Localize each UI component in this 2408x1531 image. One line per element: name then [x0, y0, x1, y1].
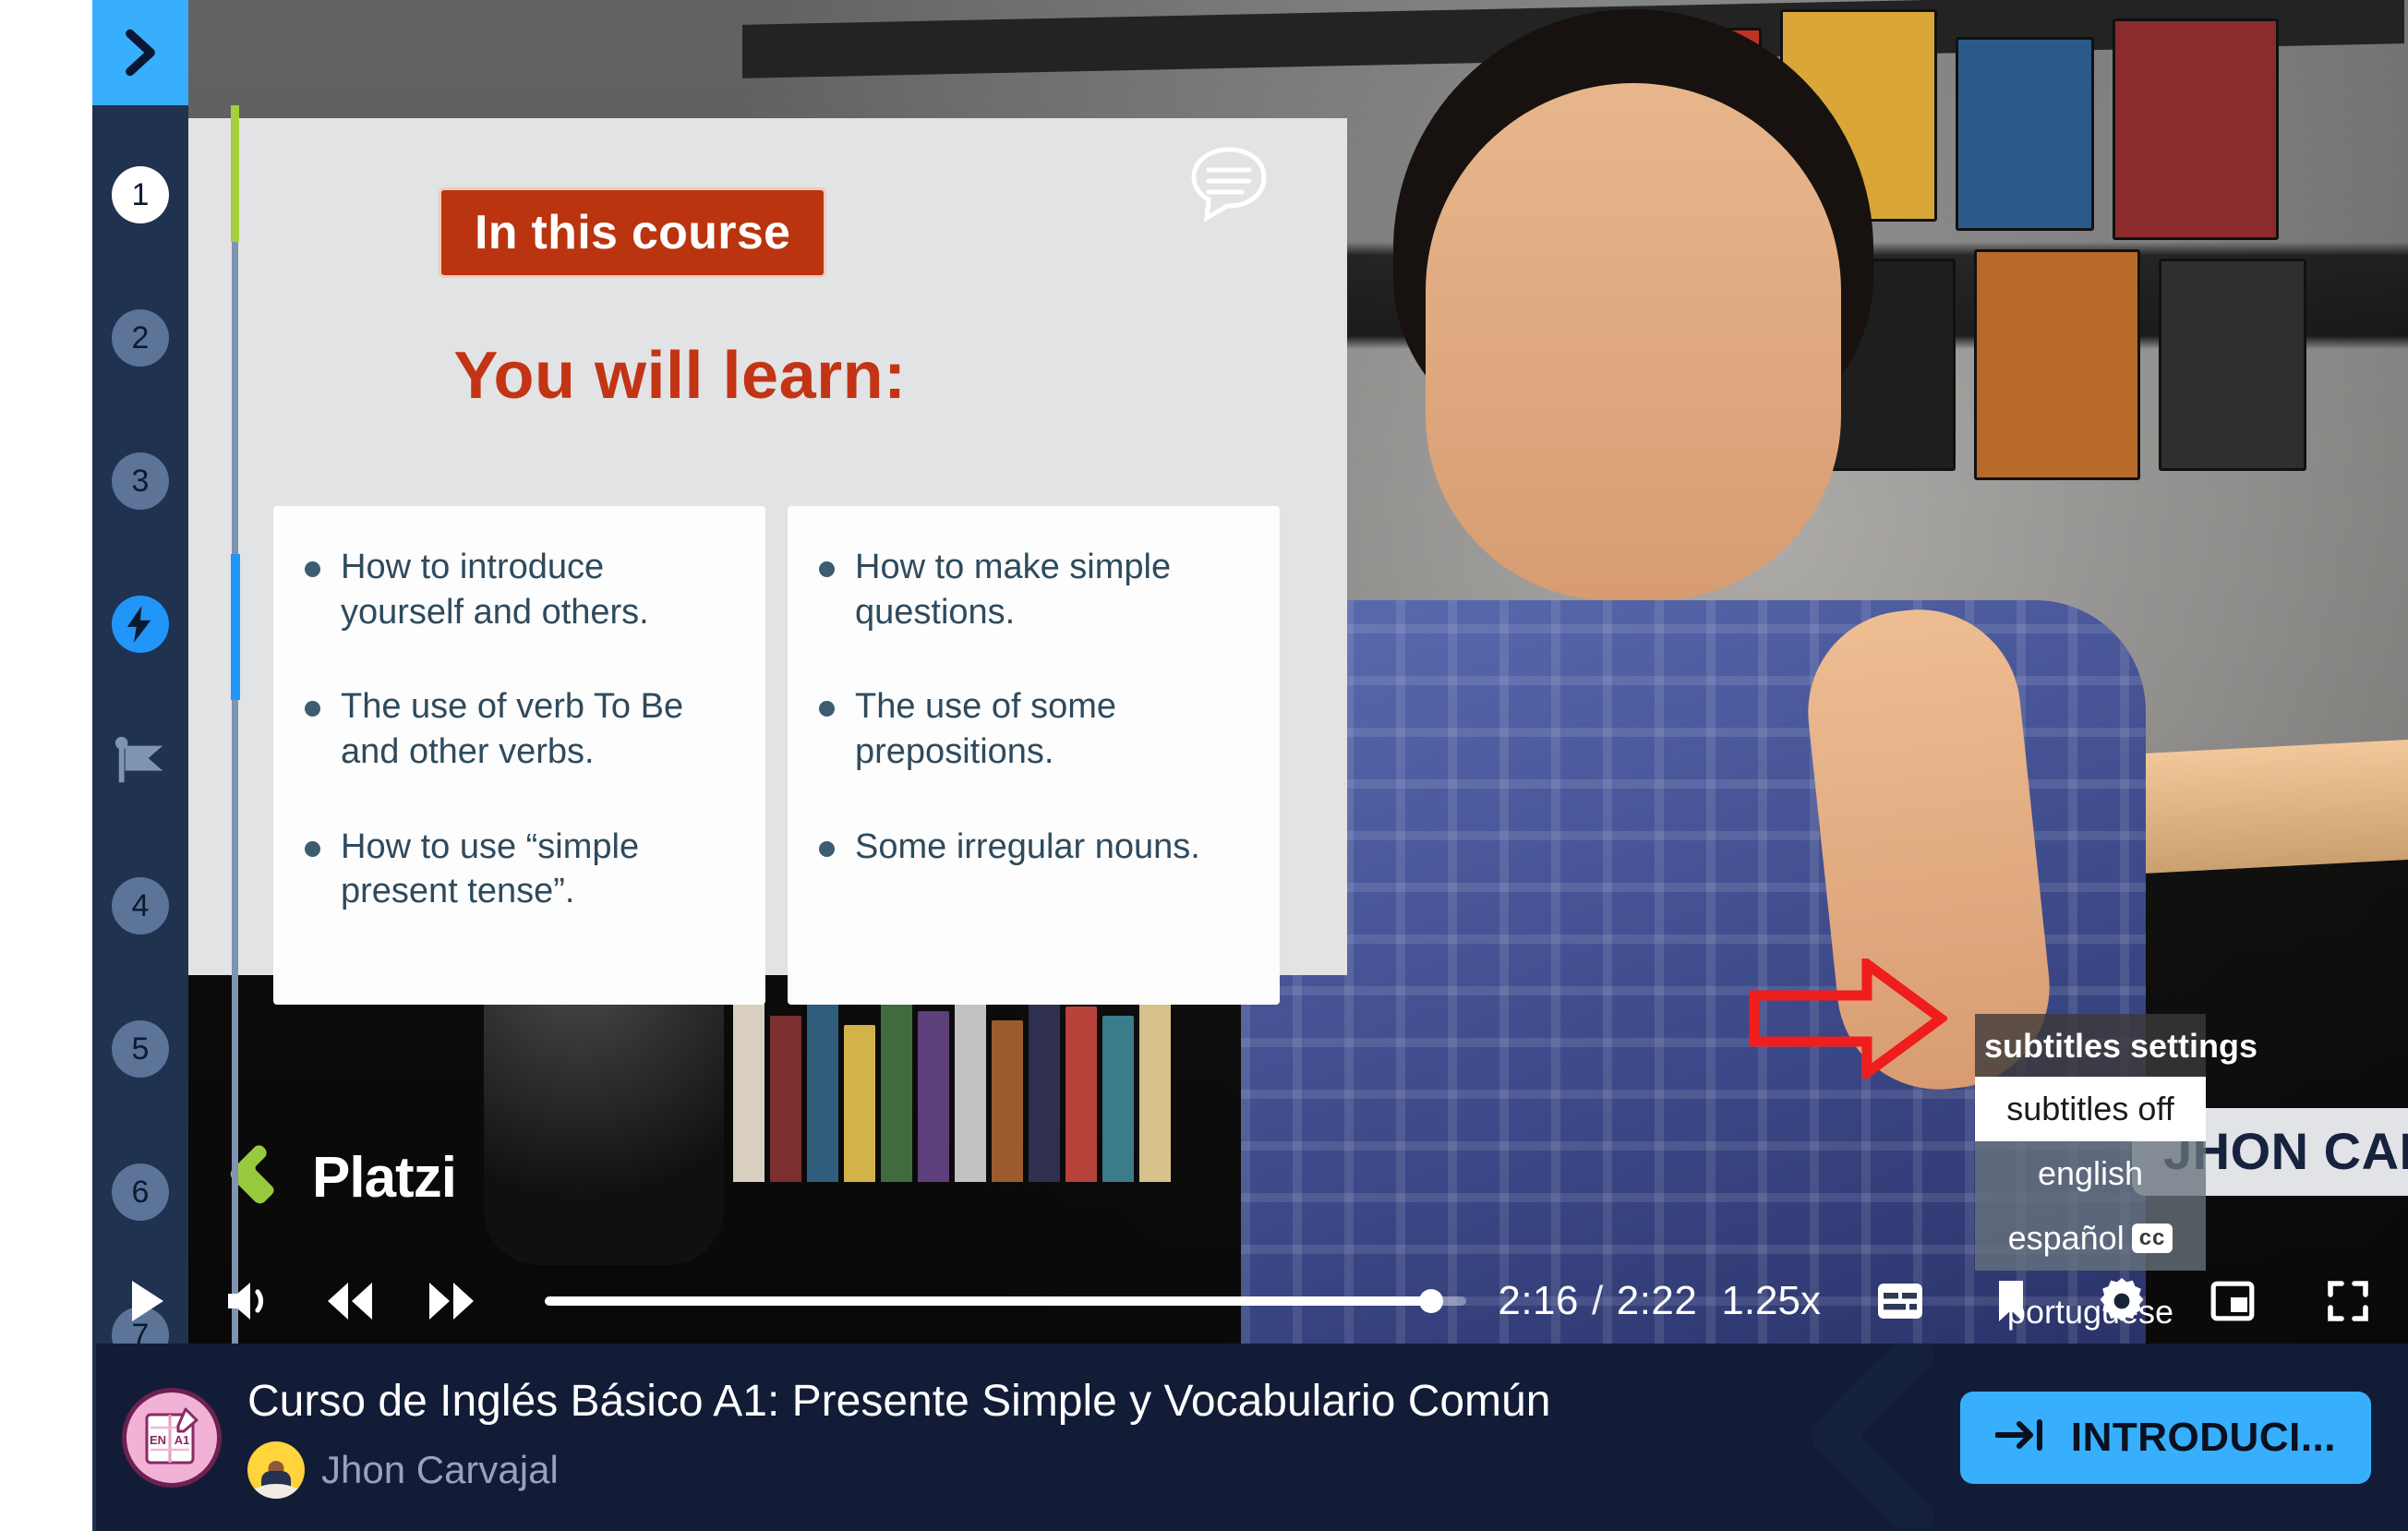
cc-badge-icon: cc	[2132, 1224, 2173, 1253]
platzi-logo: Platzi	[223, 1143, 456, 1212]
video-progress-bar[interactable]	[545, 1296, 1466, 1306]
bookmark-button[interactable]	[1956, 1279, 2066, 1323]
list-item: How to introduce yourself and others.	[305, 545, 734, 634]
rail-node-label: 4	[132, 888, 150, 924]
play-icon	[128, 1279, 165, 1323]
sidebar-item-6[interactable]: 6	[112, 1163, 169, 1221]
player-controls-bar[interactable]: 2:16/2:22 1.25x	[96, 1258, 2408, 1344]
comment-bubble-icon	[1186, 144, 1271, 228]
platzi-course-player: In this course You will learn: How to in…	[0, 0, 2408, 1531]
fullscreen-icon	[2327, 1280, 2369, 1322]
progress-fill	[545, 1296, 1431, 1306]
platzi-watermark-chevron-icon	[1799, 1343, 1974, 1531]
list-item: Some irregular nouns.	[819, 825, 1248, 870]
rewind-button[interactable]	[299, 1281, 401, 1321]
bullet-dot-icon	[819, 701, 835, 717]
next-class-area: Platzi INTRODUCI...	[1960, 1392, 2371, 1484]
subtitles-button[interactable]	[1845, 1282, 1956, 1320]
course-badge-icon: EN A1	[122, 1388, 222, 1488]
svg-text:A1: A1	[175, 1433, 190, 1447]
expand-sidebar-button[interactable]	[92, 0, 188, 105]
course-author[interactable]: Jhon Carvajal	[247, 1441, 1960, 1499]
rewind-icon	[324, 1281, 376, 1321]
sidebar-item-5[interactable]: 5	[112, 1020, 169, 1078]
current-time: 2:16	[1498, 1278, 1579, 1323]
slide-card-left: How to introduce yourself and others. Th…	[273, 506, 765, 1005]
red-right-arrow-annotation	[1749, 958, 1947, 1083]
list-item: How to use “simple present tense”.	[305, 825, 734, 914]
bullet-dot-icon	[305, 701, 320, 717]
bullet-text: The use of verb To Be and other verbs.	[341, 684, 734, 774]
subtitles-icon	[1876, 1282, 1924, 1320]
progress-thumb[interactable]	[1419, 1289, 1443, 1313]
rail-node-label: 5	[132, 1031, 150, 1067]
platzi-wordmark: Platzi	[312, 1145, 456, 1211]
bullet-dot-icon	[305, 561, 320, 577]
bullet-dot-icon	[819, 841, 835, 857]
avatar	[247, 1441, 305, 1499]
page-title: Curso de Inglés Básico A1: Presente Simp…	[247, 1376, 1960, 1427]
subtitles-option-label: subtitles off	[2006, 1090, 2173, 1127]
svg-text:EN: EN	[150, 1433, 166, 1447]
subtitles-option-english[interactable]: english	[1975, 1141, 2206, 1206]
sidebar-item-flag-milestone[interactable]	[113, 734, 168, 790]
rail-node-label: 1	[132, 177, 150, 213]
fullscreen-button[interactable]	[2288, 1280, 2408, 1322]
subtitles-option-off[interactable]: subtitles off	[1975, 1077, 2206, 1141]
video-stage[interactable]: In this course You will learn: How to in…	[96, 0, 2408, 1344]
rail-track-completed	[231, 105, 239, 242]
rail-node-label: 6	[132, 1175, 150, 1211]
bullet-text: How to use “simple present tense”.	[341, 825, 734, 914]
play-button[interactable]	[96, 1279, 198, 1323]
slide-badge: In this course	[441, 190, 824, 275]
slide-cards: How to introduce yourself and others. Th…	[273, 506, 1280, 1005]
list-item: The use of verb To Be and other verbs.	[305, 684, 734, 774]
fast-forward-icon	[426, 1281, 477, 1321]
volume-button[interactable]	[198, 1279, 299, 1323]
sidebar-item-4[interactable]: 4	[112, 877, 169, 934]
bullet-dot-icon	[819, 561, 835, 577]
duration: 2:22	[1617, 1278, 1698, 1323]
time-display: 2:16/2:22	[1498, 1278, 1697, 1324]
playback-rate-button[interactable]: 1.25x	[1721, 1278, 1821, 1324]
sidebar-item-2[interactable]: 2	[112, 309, 169, 367]
bullet-dot-icon	[305, 841, 320, 857]
time-separator: /	[1592, 1278, 1604, 1323]
slide-heading: You will learn:	[96, 338, 1264, 414]
slide-card-right: How to make simple questions. The use of…	[788, 506, 1280, 1005]
sidebar-item-1[interactable]: 1	[112, 166, 169, 223]
subtitles-option-label: español	[2008, 1219, 2125, 1257]
gear-icon	[2099, 1278, 2145, 1324]
rail-node-label: 2	[132, 320, 150, 356]
course-meta: Curso de Inglés Básico A1: Presente Simp…	[247, 1376, 1960, 1499]
fast-forward-button[interactable]	[401, 1281, 502, 1321]
rail-track-active	[231, 554, 240, 700]
sidebar-item-3[interactable]: 3	[112, 452, 169, 510]
bookmark-icon	[1995, 1279, 2027, 1323]
subtitles-menu-header: subtitles settings	[1975, 1014, 2206, 1077]
bullet-list-left: How to introduce yourself and others. Th…	[305, 545, 734, 914]
author-name: Jhon Carvajal	[321, 1448, 559, 1492]
lightning-bolt-icon	[125, 606, 156, 643]
bullet-text: How to introduce yourself and others.	[341, 545, 734, 634]
subtitles-option-label: english	[2038, 1154, 2143, 1192]
bullet-list-right: How to make simple questions. The use of…	[819, 545, 1248, 869]
settings-button[interactable]	[2066, 1278, 2177, 1324]
arrow-to-line-right-icon	[1995, 1415, 2045, 1461]
next-class-button[interactable]: INTRODUCI...	[1960, 1392, 2371, 1484]
bullet-text: How to make simple questions.	[855, 545, 1248, 634]
flag-icon	[113, 736, 168, 788]
bullet-text: The use of some prepositions.	[855, 684, 1248, 774]
rail-node-label: 3	[132, 464, 150, 500]
bullet-text: Some irregular nouns.	[855, 825, 1200, 870]
picture-in-picture-icon	[2210, 1281, 2255, 1321]
chevron-right-icon	[117, 27, 163, 78]
lesson-slide: In this course You will learn: How to in…	[96, 118, 1347, 975]
sidebar-item-current-class[interactable]	[112, 596, 169, 653]
list-item: The use of some prepositions.	[819, 684, 1248, 774]
next-class-label: INTRODUCI...	[2071, 1415, 2336, 1461]
list-item: How to make simple questions.	[819, 545, 1248, 634]
picture-in-picture-button[interactable]	[2177, 1281, 2288, 1321]
course-footer-bar: EN A1 Curso de Inglés Básico A1: Present…	[96, 1344, 2408, 1531]
volume-icon	[224, 1279, 272, 1323]
